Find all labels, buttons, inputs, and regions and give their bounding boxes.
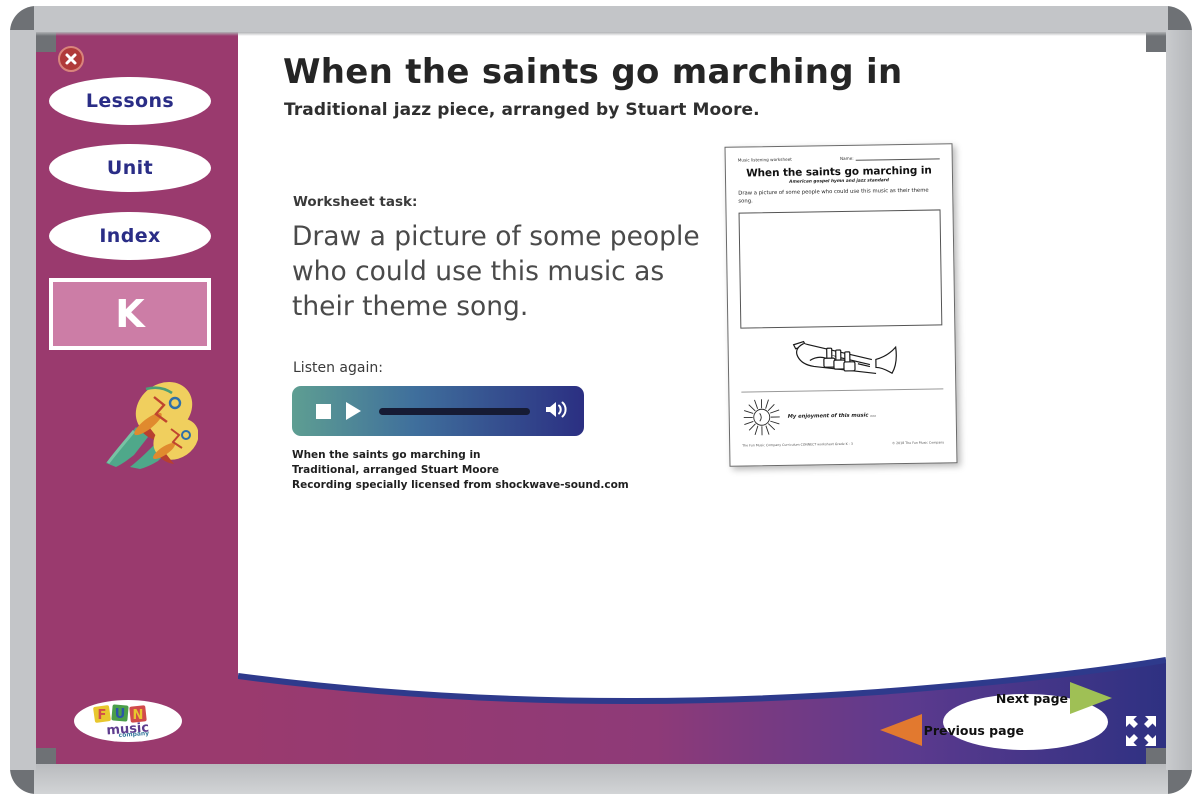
worksheet-header-left: Music listening worksheet <box>738 157 792 163</box>
volume-icon[interactable] <box>544 400 568 423</box>
next-page-label: Next page <box>996 691 1068 706</box>
sidebar-item-index[interactable]: Index <box>49 212 211 260</box>
worksheet-instruction: Draw a picture of some people who could … <box>738 187 940 206</box>
frame-bar-left <box>10 30 36 770</box>
frame-bar-right <box>1166 30 1192 770</box>
sidebar-item-unit[interactable]: Unit <box>49 144 211 192</box>
worksheet-divider <box>741 388 943 392</box>
worksheet-footer-right: © 2018 The Fun Music Company <box>892 440 944 445</box>
sidebar-item-label: Index <box>99 225 160 247</box>
svg-text:F: F <box>98 708 107 723</box>
worksheet-task-label: Worksheet task: <box>293 194 417 210</box>
page-subtitle: Traditional jazz piece, arranged by Stua… <box>284 100 760 120</box>
audio-credits: When the saints go marching in Tradition… <box>292 448 629 493</box>
worksheet-name-label: Name: <box>840 156 854 161</box>
worksheet-drawing-box <box>739 209 943 328</box>
listen-again-label: Listen again: <box>293 360 383 376</box>
lesson-screen: Lessons Unit Index K <box>36 32 1166 764</box>
sidebar: Lessons Unit Index K <box>36 32 238 764</box>
previous-page-button[interactable]: Previous page <box>878 708 1024 752</box>
whiteboard-frame: Lessons Unit Index K <box>10 6 1192 794</box>
trumpet-icon <box>740 332 943 381</box>
stop-icon[interactable] <box>316 404 331 419</box>
worksheet-footer-left: The Fun Music Company Curriculum CONNECT… <box>742 442 853 448</box>
maracas-icon <box>98 377 198 473</box>
page-title: When the saints go marching in <box>283 52 902 92</box>
arrow-left-icon <box>878 708 924 752</box>
sidebar-item-label: Lessons <box>86 90 174 112</box>
frame-bar-bottom <box>34 764 1168 794</box>
sun-icon <box>741 397 782 438</box>
play-icon[interactable] <box>346 402 361 420</box>
worksheet-thumbnail[interactable]: Music listening worksheet Name: When the… <box>725 143 958 467</box>
sidebar-item-label: Unit <box>107 157 153 179</box>
content-area: When the saints go marching in Tradition… <box>238 32 1166 764</box>
worksheet-enjoyment-label: My enjoyment of this music ... <box>788 412 877 419</box>
arrow-right-icon <box>1068 676 1114 720</box>
worksheet-name-line <box>856 154 940 160</box>
frame-bar-top <box>34 6 1168 32</box>
fullscreen-expand-icon[interactable] <box>1124 714 1158 752</box>
fun-music-logo[interactable]: F U N music company <box>74 700 182 742</box>
worksheet-header-row: Music listening worksheet Name: <box>738 154 940 162</box>
grade-badge[interactable]: K <box>49 278 211 350</box>
svg-text:U: U <box>115 707 126 722</box>
audio-progress-bar[interactable] <box>379 408 530 415</box>
worksheet-task-text: Draw a picture of some people who could … <box>292 219 704 325</box>
previous-page-label: Previous page <box>924 723 1024 738</box>
worksheet-enjoyment-row: My enjoyment of this music ... <box>741 394 944 437</box>
audio-player[interactable] <box>292 386 584 436</box>
sidebar-item-lessons[interactable]: Lessons <box>49 77 211 125</box>
worksheet-footer: The Fun Music Company Curriculum CONNECT… <box>742 440 944 447</box>
svg-text:company: company <box>118 730 149 738</box>
close-icon[interactable] <box>58 46 84 72</box>
grade-badge-label: K <box>115 292 144 336</box>
frame-inner-shadow <box>36 32 1166 36</box>
worksheet-name-field: Name: <box>840 154 940 161</box>
